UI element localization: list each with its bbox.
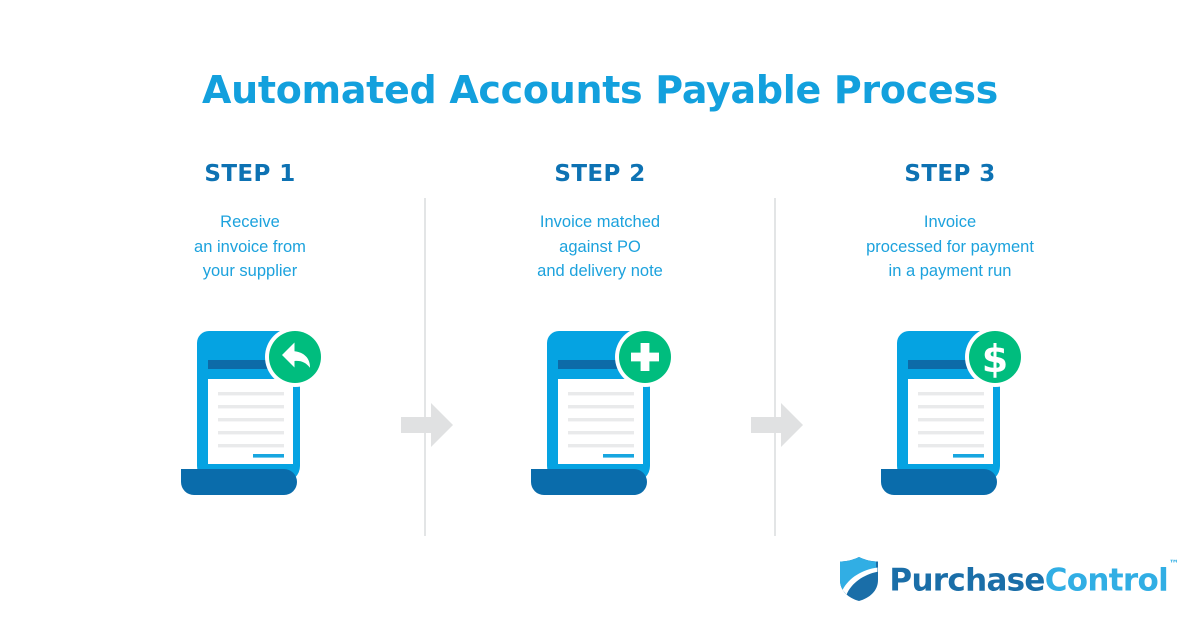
divider-line bbox=[424, 198, 426, 536]
step-1-heading: STEP 1 bbox=[204, 160, 295, 188]
step-3-description: Invoice processed for payment in a payme… bbox=[866, 210, 1034, 284]
page-line bbox=[568, 405, 634, 408]
page-line bbox=[918, 444, 984, 447]
page-line bbox=[218, 444, 284, 447]
connector-1 bbox=[400, 160, 450, 540]
logo-word-purchase: Purchase bbox=[889, 563, 1044, 599]
step-item-1: STEP 1 Receive an invoice from your supp… bbox=[100, 160, 400, 284]
logo-word-control: Control bbox=[1045, 563, 1168, 599]
document-base-bar bbox=[881, 469, 997, 495]
page-line bbox=[918, 431, 984, 434]
steps-row: STEP 1 Receive an invoice from your supp… bbox=[100, 160, 1100, 540]
document-title-bar bbox=[558, 360, 618, 369]
document-base-bar bbox=[181, 469, 297, 495]
arrow-right-icon bbox=[401, 403, 453, 447]
step-3-heading: STEP 3 bbox=[904, 160, 995, 188]
arrow-right-icon bbox=[751, 403, 803, 447]
document-base-bar bbox=[531, 469, 647, 495]
page-line bbox=[218, 431, 284, 434]
page-line bbox=[218, 405, 284, 408]
document-page bbox=[558, 379, 643, 464]
page-line bbox=[218, 418, 284, 421]
page-accent-line bbox=[253, 454, 284, 458]
step-item-2: STEP 2 Invoice matched against PO and de… bbox=[450, 160, 750, 284]
document-title-bar bbox=[908, 360, 968, 369]
trademark-symbol: ™ bbox=[1169, 559, 1179, 570]
divider-line bbox=[774, 198, 776, 536]
step-1-description: Receive an invoice from your supplier bbox=[194, 210, 306, 284]
dollar-icon: $ bbox=[982, 337, 1008, 381]
document-page bbox=[908, 379, 993, 464]
page-title: Automated Accounts Payable Process bbox=[0, 68, 1200, 112]
brand-logo: PurchaseControl™ bbox=[840, 556, 1178, 602]
page-line bbox=[918, 405, 984, 408]
step-item-3: STEP 3 Invoice processed for payment in … bbox=[800, 160, 1100, 284]
page-line bbox=[218, 392, 284, 395]
page-line bbox=[568, 392, 634, 395]
page-line bbox=[568, 418, 634, 421]
page-accent-line bbox=[603, 454, 634, 458]
page-line bbox=[568, 444, 634, 447]
page-line bbox=[918, 418, 984, 421]
step-2-document-icon bbox=[520, 323, 680, 501]
page-line bbox=[568, 431, 634, 434]
document-title-bar bbox=[208, 360, 268, 369]
page-line bbox=[918, 392, 984, 395]
connector-2 bbox=[750, 160, 800, 540]
shield-icon bbox=[840, 557, 878, 601]
step-3-document-icon: $ bbox=[870, 323, 1030, 501]
step-2-description: Invoice matched against PO and delivery … bbox=[537, 210, 663, 284]
document-page bbox=[208, 379, 293, 464]
step-1-document-icon bbox=[170, 323, 330, 501]
page-accent-line bbox=[953, 454, 984, 458]
step-2-heading: STEP 2 bbox=[554, 160, 645, 188]
logo-wordmark: PurchaseControl™ bbox=[889, 560, 1178, 597]
